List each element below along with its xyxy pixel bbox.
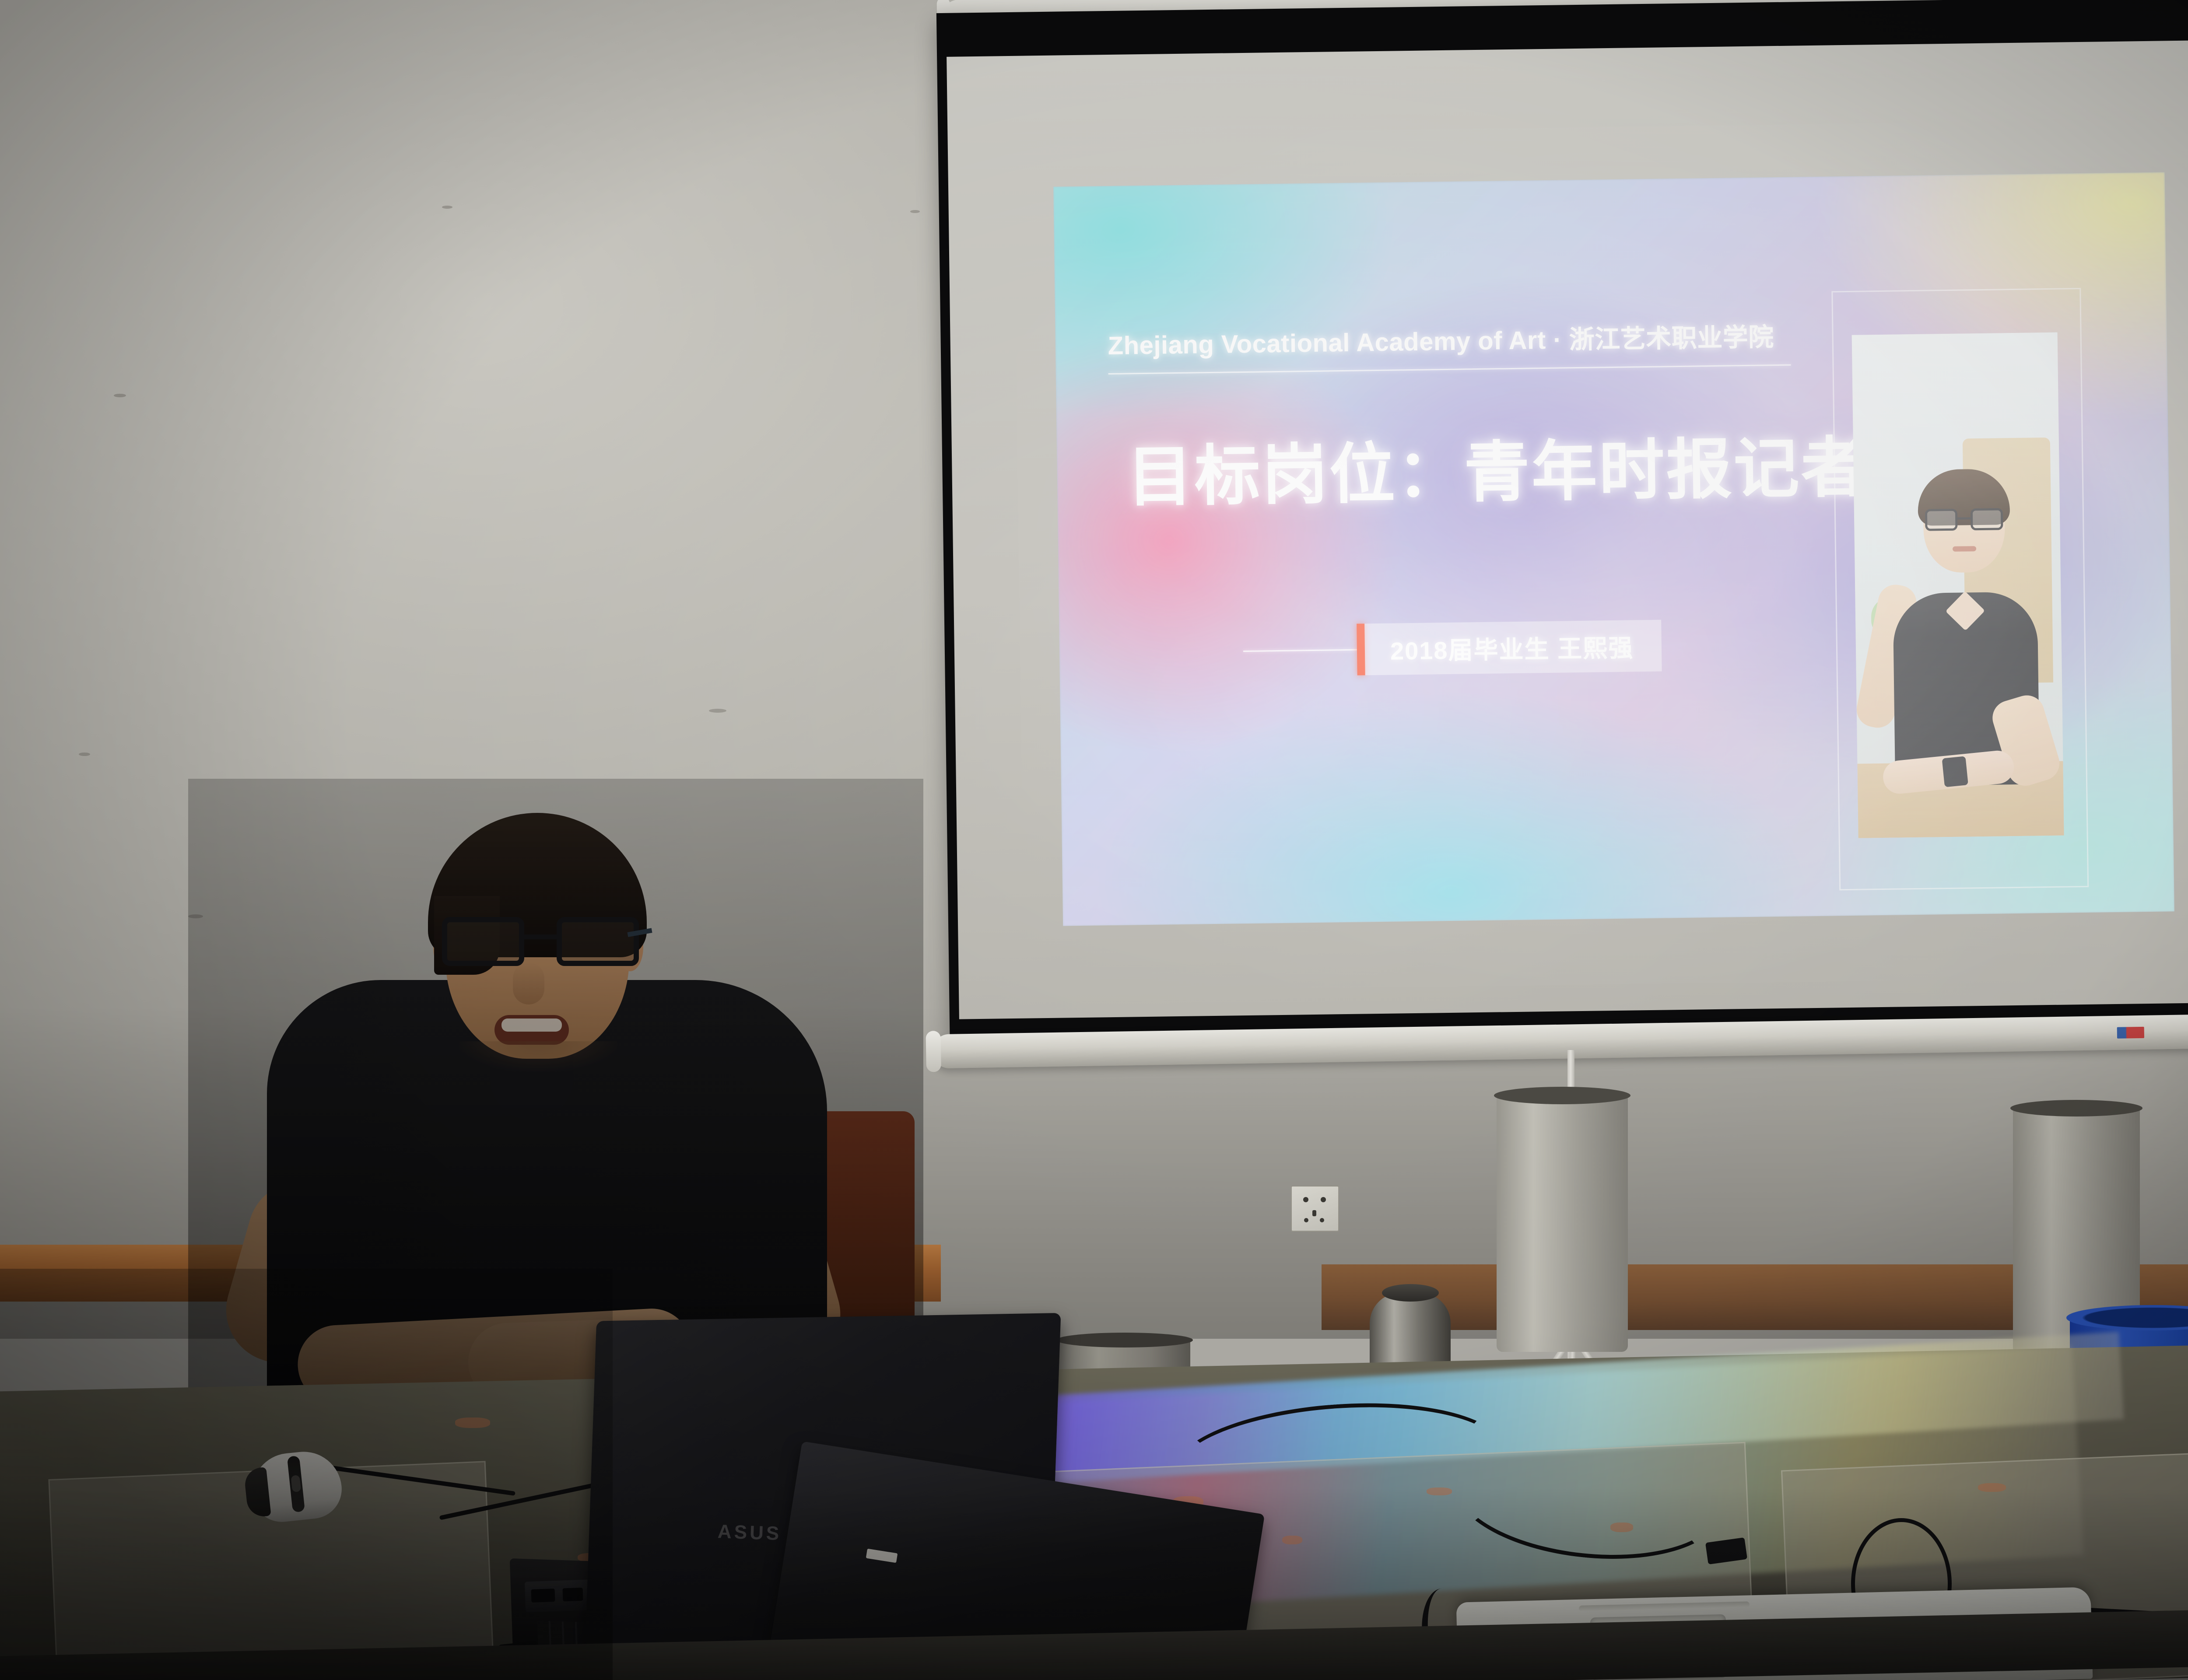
power-outlet[interactable] bbox=[1291, 1186, 1339, 1232]
outlet-hole bbox=[1321, 1197, 1326, 1202]
slide-graduate-photo bbox=[1852, 332, 2064, 838]
presenter-teeth bbox=[501, 1018, 562, 1032]
table-scuff bbox=[455, 1417, 490, 1428]
presenter-chin-shadow bbox=[459, 1041, 617, 1072]
classroom-photo-scene: Zhejiang Vocational Academy of Art · 浙江艺… bbox=[0, 0, 2188, 1680]
outlet-hole bbox=[1303, 1197, 1308, 1202]
slide-subtitle-leader-line bbox=[1243, 649, 1357, 651]
presentation-slide: Zhejiang Vocational Academy of Art · 浙江艺… bbox=[1053, 172, 2174, 926]
wall-blemish bbox=[442, 206, 452, 209]
presenter bbox=[188, 779, 923, 1400]
eyeglasses-icon bbox=[442, 917, 639, 969]
wall-blemish bbox=[114, 394, 126, 397]
presenter-nose bbox=[513, 962, 544, 1004]
wall-blemish bbox=[910, 210, 920, 213]
photo-projection-haze bbox=[1852, 332, 2064, 838]
projection-screen-surface: Zhejiang Vocational Academy of Art · 浙江艺… bbox=[947, 40, 2188, 1019]
table-scuff bbox=[1282, 1536, 1302, 1544]
outlet-hole bbox=[1320, 1218, 1324, 1222]
wall-blemish bbox=[79, 752, 90, 756]
slide-subtitle-text: 2018届毕业生 王熙强 bbox=[1390, 628, 1634, 667]
slide-main-title: 目标岗位：青年时报记者 bbox=[1126, 414, 1869, 519]
laptop-port bbox=[562, 1588, 583, 1602]
eyeglasses-bridge bbox=[524, 934, 558, 939]
laptop-port bbox=[531, 1589, 555, 1603]
slide-subtitle-group: 2018届毕业生 王熙强 bbox=[1243, 620, 1662, 677]
eyeglasses-lens-right bbox=[557, 917, 639, 966]
eyeglasses-lens-left bbox=[442, 917, 524, 966]
outlet-hole bbox=[1304, 1218, 1308, 1222]
slide-accent-bar bbox=[1357, 623, 1365, 675]
projection-screen: Zhejiang Vocational Academy of Art · 浙江艺… bbox=[936, 0, 2188, 1037]
kettle-lid bbox=[1382, 1284, 1439, 1302]
slide-photo-frame bbox=[1831, 288, 2089, 890]
slide-header: Zhejiang Vocational Academy of Art · 浙江艺… bbox=[1108, 316, 1817, 374]
table-scuff bbox=[1978, 1483, 2006, 1492]
projector-vent-ridge bbox=[1579, 1601, 1750, 1612]
metal-trash-bin bbox=[1497, 1094, 1628, 1352]
slide-subtitle-box: 2018届毕业生 王熙强 bbox=[1364, 620, 1662, 675]
computer-mouse[interactable] bbox=[248, 1448, 344, 1525]
roller-cap bbox=[926, 1031, 941, 1072]
screen-brand-logo bbox=[2117, 1027, 2144, 1039]
wall-blemish bbox=[709, 709, 726, 713]
outlet-hole bbox=[1312, 1210, 1316, 1216]
